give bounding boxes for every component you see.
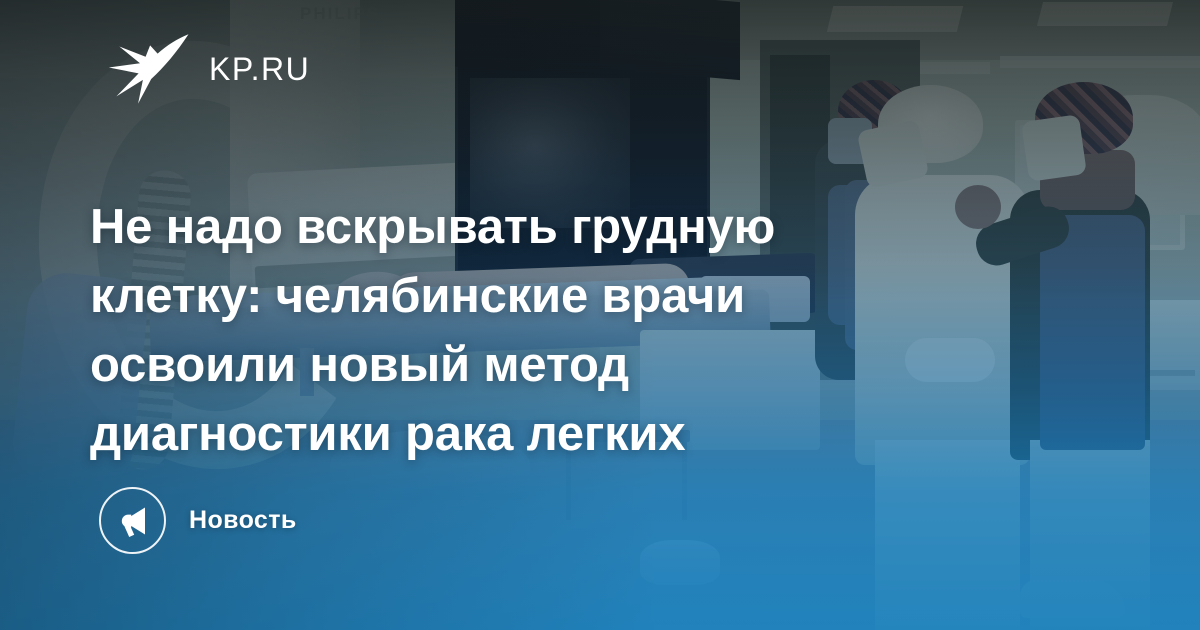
brand-lockup[interactable]: KP.RU [107,32,310,106]
social-share-card: PHILIPS [0,0,1200,630]
card-content: KP.RU Не надо вскрывать грудную клетку: … [0,0,1200,630]
brand-name: KP.RU [209,53,310,85]
swallow-bird-logo-icon [107,32,191,106]
page-title: Не надо вскрывать грудную клетку: челяби… [90,193,920,469]
status-badge[interactable]: Новость [99,487,297,554]
badge-label: Новость [189,506,297,535]
badge-circle [99,487,166,554]
megaphone-icon [115,503,151,539]
